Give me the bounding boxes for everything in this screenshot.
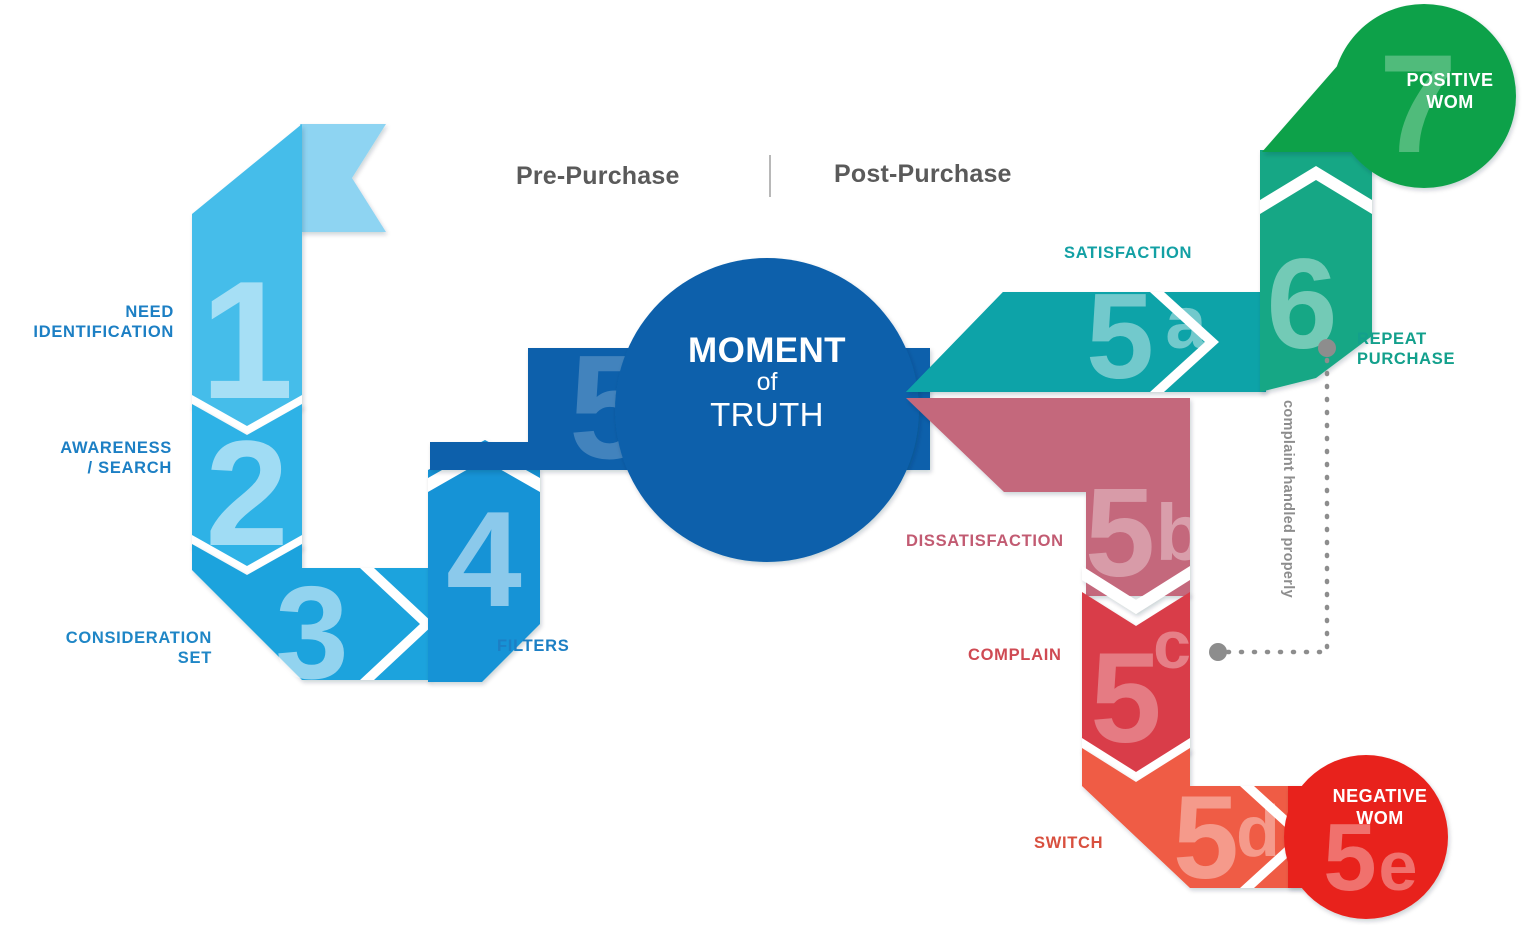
flow-ribbon-graphic: 1 2 3 4 5 <box>0 0 1534 925</box>
header-pre-purchase: Pre-Purchase <box>516 162 680 191</box>
svg-text:4: 4 <box>446 483 522 635</box>
phase-divider <box>769 155 771 197</box>
label-switch: SWITCH <box>1034 833 1103 853</box>
svg-text:d: d <box>1236 792 1280 872</box>
svg-text:a: a <box>1165 281 1207 364</box>
svg-text:7: 7 <box>1379 25 1457 182</box>
svg-text:5: 5 <box>1086 268 1154 404</box>
svg-text:e: e <box>1379 827 1418 905</box>
label-satisfaction: SATISFACTION <box>1064 243 1192 263</box>
label-need-identification: NEEDIDENTIFICATION <box>33 302 174 342</box>
label-filters: FILTERS <box>497 636 569 656</box>
connector-label: complaint handled properly <box>1280 400 1296 598</box>
label-dissatisfaction: DISSATISFACTION <box>906 531 1064 551</box>
svg-text:5: 5 <box>1173 772 1239 904</box>
label-complain: COMPLAIN <box>968 645 1062 665</box>
label-repeat-purchase: REPEATPURCHASE <box>1357 329 1455 369</box>
journey-diagram: 1 2 3 4 5 <box>0 0 1534 925</box>
header-post-purchase: Post-Purchase <box>834 160 1012 189</box>
svg-text:5: 5 <box>1085 462 1155 603</box>
label-awareness-search: AWARENESS/ SEARCH <box>60 438 172 478</box>
svg-text:5: 5 <box>1090 627 1161 770</box>
svg-text:5: 5 <box>1323 804 1376 911</box>
svg-text:3: 3 <box>275 559 348 706</box>
svg-text:1: 1 <box>200 246 293 434</box>
svg-text:c: c <box>1153 607 1191 683</box>
svg-text:b: b <box>1156 488 1205 577</box>
svg-text:2: 2 <box>205 409 288 577</box>
label-consideration-set: CONSIDERATIONSET <box>66 628 212 668</box>
